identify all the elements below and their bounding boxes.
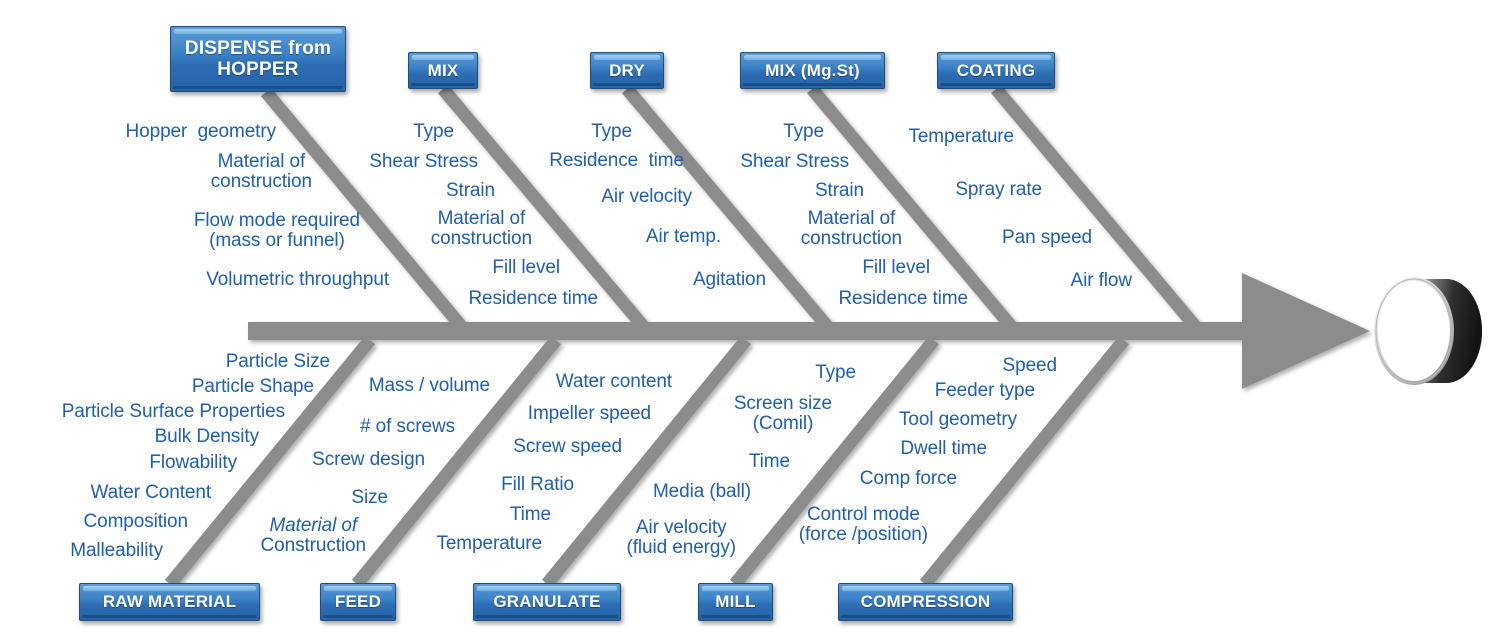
cause-label-mill-3: Media (ball) xyxy=(653,482,751,502)
cause-label-dry-2: Air velocity xyxy=(601,187,692,207)
cause-label-feed-3: Size xyxy=(351,488,388,508)
cause-label-granulate-0: Water content xyxy=(556,372,672,392)
cause-label-coating-1: Spray rate xyxy=(955,180,1042,200)
category-box-coating[interactable]: COATING xyxy=(937,52,1055,89)
category-box-mix[interactable]: MIX xyxy=(408,52,478,89)
category-box-granulate[interactable]: GRANULATE xyxy=(473,583,621,621)
cause-label-raw-material-6: Composition xyxy=(83,512,188,532)
category-label-coating: COATING xyxy=(938,61,1054,80)
cause-label-coating-0: Temperature xyxy=(908,127,1014,147)
cause-label-coating-3: Air flow xyxy=(1071,271,1133,291)
category-label-dry: DRY xyxy=(591,61,663,80)
cause-label-feed-4: Material ofConstruction xyxy=(261,516,366,556)
cause-label-raw-material-3: Bulk Density xyxy=(155,427,259,447)
cause-label-compression-2: Tool geometry xyxy=(899,410,1017,430)
cause-label-mill-0: Type xyxy=(815,363,856,383)
cause-label-mix-mgst-4: Fill level xyxy=(862,258,930,278)
cause-label-dispense-from-hopper-2: Flow mode required(mass or funnel) xyxy=(194,211,360,251)
category-box-dispense-from-hopper[interactable]: DISPENSE fromHOPPER xyxy=(170,26,346,92)
cause-label-raw-material-7: Malleability xyxy=(70,541,163,561)
cause-label-mix-0: Type xyxy=(413,122,454,142)
cause-label-compression-5: Control mode(force /position) xyxy=(799,505,928,545)
cause-label-raw-material-0: Particle Size xyxy=(226,352,330,372)
cause-label-mill-1: Screen size(Comil) xyxy=(734,394,832,434)
cause-label-mix-2: Strain xyxy=(446,181,495,201)
category-label-mix: MIX xyxy=(409,61,477,80)
cause-label-dry-1: Residence time xyxy=(549,151,684,171)
fishbone-diagram: DISPENSE fromHOPPER MIX DRY MIX (Mg.St) … xyxy=(0,0,1511,643)
cause-label-mill-2: Time xyxy=(749,452,790,472)
category-label-granulate: GRANULATE xyxy=(474,592,620,611)
category-label-dispense-from-hopper: DISPENSE fromHOPPER xyxy=(171,38,345,81)
cause-label-mix-mgst-3: Material ofconstruction xyxy=(801,209,902,249)
cause-label-feed-2: Screw design xyxy=(312,450,425,470)
spine xyxy=(248,322,1248,340)
cause-label-dry-3: Air temp. xyxy=(646,227,721,247)
cause-label-raw-material-1: Particle Shape xyxy=(192,377,314,397)
cause-label-compression-1: Feeder type xyxy=(935,381,1035,401)
effect-tablet xyxy=(1376,279,1482,383)
category-label-mix-mgst: MIX (Mg.St) xyxy=(741,61,884,80)
cause-label-mix-3: Material ofconstruction xyxy=(431,209,532,249)
cause-label-mix-mgst-1: Shear Stress xyxy=(740,152,849,172)
cause-label-raw-material-4: Flowability xyxy=(149,453,237,473)
cause-label-dispense-from-hopper-1: Material ofconstruction xyxy=(211,152,312,192)
cause-label-mix-mgst-5: Residence time xyxy=(838,289,968,309)
cause-label-granulate-3: Fill Ratio xyxy=(501,475,574,495)
cause-label-compression-0: Speed xyxy=(1003,356,1057,376)
cause-label-compression-4: Comp force xyxy=(860,469,957,489)
category-label-feed: FEED xyxy=(321,592,395,611)
cause-label-dry-4: Agitation xyxy=(693,270,766,290)
cause-label-dispense-from-hopper-0: Hopper geometry xyxy=(126,122,276,142)
cause-label-mix-4: Fill level xyxy=(492,258,560,278)
cause-label-dispense-from-hopper-3: Volumetric throughput xyxy=(206,270,389,290)
fishbone-skeleton xyxy=(0,0,1511,643)
cause-label-raw-material-2: Particle Surface Properties xyxy=(62,402,285,422)
category-label-raw-material: RAW MATERIAL xyxy=(80,592,259,611)
cause-label-feed-1: # of screws xyxy=(360,417,455,437)
bone-coating xyxy=(996,89,1200,332)
cause-label-mix-mgst-0: Type xyxy=(783,122,824,142)
cause-label-granulate-4: Time xyxy=(510,505,551,525)
cause-label-raw-material-5: Water Content xyxy=(91,483,212,503)
cause-label-feed-0: Mass / volume xyxy=(369,376,490,396)
cause-label-dry-0: Type xyxy=(591,122,632,142)
bone-compression xyxy=(925,340,1124,584)
cause-label-mix-1: Shear Stress xyxy=(369,152,478,172)
cause-label-compression-3: Dwell time xyxy=(900,439,987,459)
category-box-mix-mgst[interactable]: MIX (Mg.St) xyxy=(740,52,885,89)
category-box-raw-material[interactable]: RAW MATERIAL xyxy=(79,583,260,621)
arrow-head xyxy=(1242,273,1370,389)
category-box-feed[interactable]: FEED xyxy=(320,583,396,621)
cause-label-coating-2: Pan speed xyxy=(1002,228,1092,248)
cause-label-mix-mgst-2: Strain xyxy=(815,181,864,201)
category-box-compression[interactable]: COMPRESSION xyxy=(838,583,1013,621)
category-label-compression: COMPRESSION xyxy=(839,592,1012,611)
cause-label-granulate-1: Impeller speed xyxy=(528,404,651,424)
category-box-dry[interactable]: DRY xyxy=(590,52,664,89)
cause-label-mill-4: Air velocity(fluid energy) xyxy=(627,518,736,558)
cause-label-granulate-2: Screw speed xyxy=(513,437,622,457)
cause-label-mix-5: Residence time xyxy=(468,289,598,309)
category-label-mill: MILL xyxy=(699,592,772,611)
cause-label-granulate-5: Temperature xyxy=(436,534,542,554)
category-box-mill[interactable]: MILL xyxy=(698,583,773,621)
